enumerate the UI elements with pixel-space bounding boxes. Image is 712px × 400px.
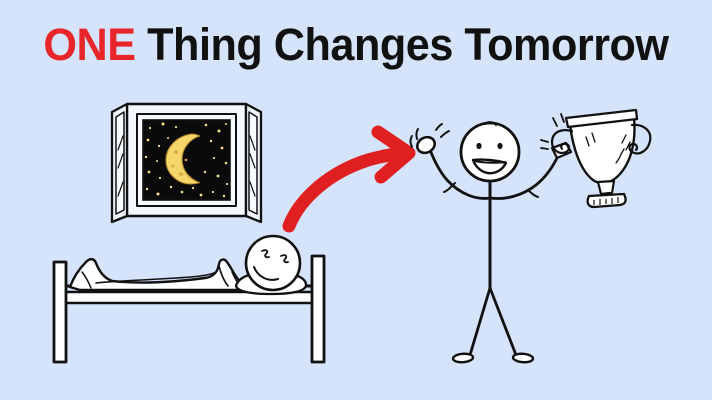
transformation-arrow (289, 132, 409, 226)
trophy-icon (541, 110, 650, 207)
figure-legs (453, 288, 534, 363)
window-right-shutter (246, 104, 261, 222)
raised-fist-icon (415, 134, 438, 156)
illustration-scene (0, 0, 712, 400)
celebrating-figure (411, 110, 651, 363)
blanket (70, 259, 256, 290)
figure-right-eye (497, 143, 502, 149)
figure-right-foot (513, 353, 534, 363)
figure-left-eye (476, 143, 481, 149)
figure-head (461, 122, 519, 181)
window-left-shutter (112, 104, 127, 222)
sleeper-figure (246, 236, 300, 290)
bed-illustration (54, 236, 324, 362)
night-sky (143, 120, 230, 200)
figure-left-foot (453, 353, 474, 363)
window-illustration (112, 104, 261, 222)
poster-canvas: ONE Thing Changes Tomorrow (0, 0, 712, 400)
